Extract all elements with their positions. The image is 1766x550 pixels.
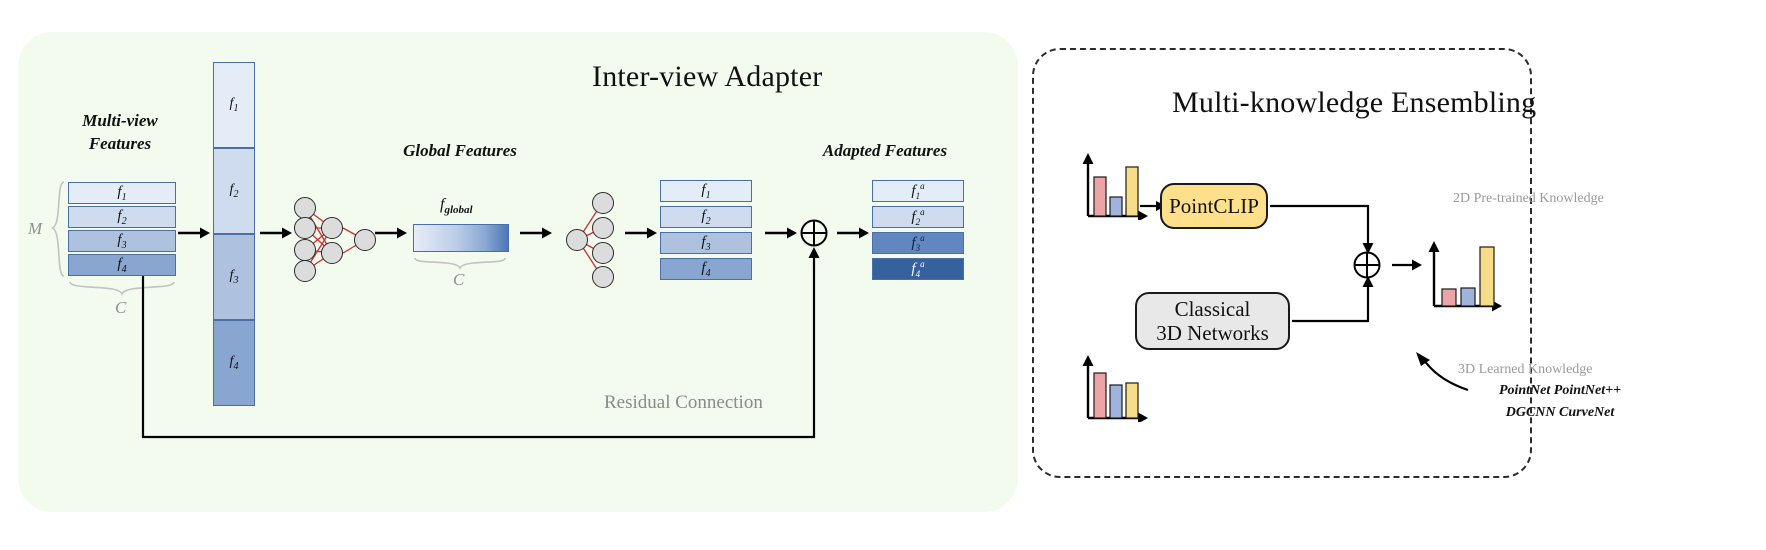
mlp-node — [294, 217, 316, 239]
inter-view-adapter-title: Inter-view Adapter — [592, 60, 822, 94]
intermediate-feature-row: f2 — [660, 206, 752, 228]
feature-label: f3 — [701, 234, 710, 253]
feature-label: f2a — [911, 207, 924, 227]
2d-pretrained-knowledge-label: 2D Pre-trained Knowledge — [1453, 191, 1604, 207]
multi-view-feature-row: f1 — [68, 182, 176, 204]
feature-label: f1 — [230, 96, 239, 114]
adapted-feature-row: f1a — [872, 180, 964, 202]
mlp-node — [294, 239, 316, 261]
adapted-feature-row: f2a — [872, 206, 964, 228]
intermediate-feature-row: f1 — [660, 180, 752, 202]
feature-label: f4a — [911, 259, 924, 279]
f-global-symbol: fglobal — [440, 196, 473, 216]
adapted-features-label: Adapted Features — [800, 140, 970, 163]
intermediate-feature-row: f3 — [660, 232, 752, 254]
feature-label: f4 — [117, 256, 126, 275]
arrow-to-mlp-up — [520, 226, 552, 240]
feature-label: f1 — [117, 184, 126, 203]
arrow-to-global — [375, 226, 407, 240]
concat-feature-segment: f4 — [213, 320, 255, 406]
arrow-to-sum — [765, 226, 797, 240]
feature-label: f2 — [117, 208, 126, 227]
multi-view-features-label: Multi-view Features — [60, 110, 180, 156]
feature-label: f3 — [230, 268, 239, 286]
mlp-node — [321, 217, 343, 239]
arrow-to-mlp-down — [260, 226, 292, 240]
feature-label: f1 — [701, 182, 710, 201]
multi-view-feature-row: f4 — [68, 254, 176, 276]
3d-learned-knowledge-label: 3D Learned Knowledge — [1458, 362, 1593, 378]
feature-label: f3a — [911, 233, 924, 253]
multi-view-feature-row: f2 — [68, 206, 176, 228]
concat-feature-segment: f1 — [213, 62, 255, 148]
mlp-node — [592, 217, 614, 239]
feature-label: f4 — [701, 260, 710, 279]
multi-view-feature-row: f3 — [68, 230, 176, 252]
concat-feature-segment: f3 — [213, 234, 255, 320]
mlp-node — [592, 266, 614, 288]
residual-sum-icon — [800, 219, 828, 247]
mlp-node — [592, 242, 614, 264]
c-dimension-brace — [68, 280, 178, 298]
residual-connection-label: Residual Connection — [604, 392, 763, 414]
classical-3d-networks-box[interactable]: Classical 3D Networks — [1135, 292, 1290, 350]
pointclip-box[interactable]: PointCLIP — [1160, 183, 1268, 229]
feature-label: f3 — [117, 232, 126, 251]
m-dimension-label: M — [28, 219, 42, 239]
global-feature-bar — [413, 224, 509, 252]
adapted-feature-row: f4a — [872, 258, 964, 280]
feature-label: f1a — [911, 181, 924, 201]
mlp-node — [566, 229, 588, 251]
mlp-node — [294, 197, 316, 219]
mlp-node — [321, 242, 343, 264]
classical3d-input-bar-chart — [1078, 352, 1150, 422]
c-global-label: C — [453, 270, 464, 290]
c-dimension-label: C — [115, 298, 126, 318]
mlp-node — [592, 192, 614, 214]
feature-label: f2 — [230, 182, 239, 200]
figure-root: Inter-view Adapter Multi-view Features f… — [0, 0, 1766, 550]
backbone-list: PointNet PointNet++ DGCNN CurveNet — [1460, 380, 1660, 423]
intermediate-feature-row: f4 — [660, 258, 752, 280]
feature-label: f4 — [230, 354, 239, 372]
ensemble-sum-icon — [1353, 251, 1381, 279]
global-features-label: Global Features — [380, 140, 540, 163]
arrow-to-adapted — [837, 226, 869, 240]
adapted-feature-row: f3a — [872, 232, 964, 254]
feature-label: f2 — [701, 208, 710, 227]
concat-feature-segment: f2 — [213, 148, 255, 234]
ensembled-output-bar-chart — [1424, 238, 1504, 314]
arrow-to-intermediate — [625, 226, 657, 240]
mlp-node — [354, 229, 376, 251]
m-dimension-brace — [48, 180, 66, 280]
multi-knowledge-ensembling-title: Multi-knowledge Ensembling — [1172, 86, 1536, 120]
arrow-to-concat — [178, 226, 210, 240]
mlp-node — [294, 260, 316, 282]
